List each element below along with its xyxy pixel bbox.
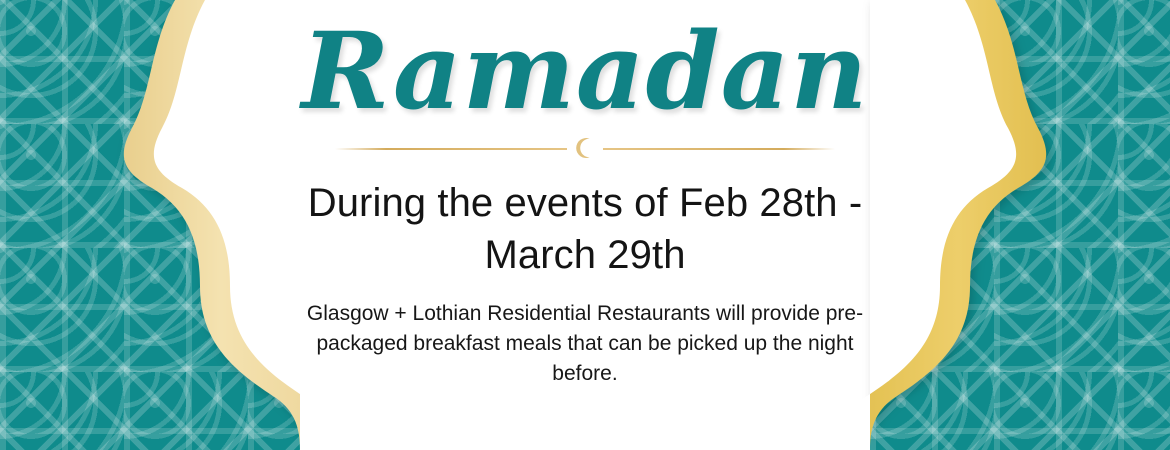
body-line-1: Glasgow + Lothian Residential Restaurant… [285, 299, 885, 329]
banner-title: Ramadan [302, 8, 869, 133]
body-line-2: packaged breakfast meals that can be pic… [285, 329, 885, 389]
divider-rule-right [603, 148, 835, 150]
event-subtitle: During the events of Feb 28th - March 29… [255, 177, 915, 281]
right-pattern-panel [870, 0, 1170, 450]
ramadan-banner: Ramadan During the events of Feb 28th - … [0, 0, 1170, 450]
banner-content: Ramadan During the events of Feb 28th - … [255, 0, 915, 450]
crescent-moon-icon [573, 136, 597, 160]
divider-rule-left [335, 148, 567, 150]
gold-divider [335, 135, 835, 161]
event-description: Glasgow + Lothian Residential Restaurant… [285, 299, 885, 388]
subtitle-line-1: During the events of [308, 181, 668, 225]
